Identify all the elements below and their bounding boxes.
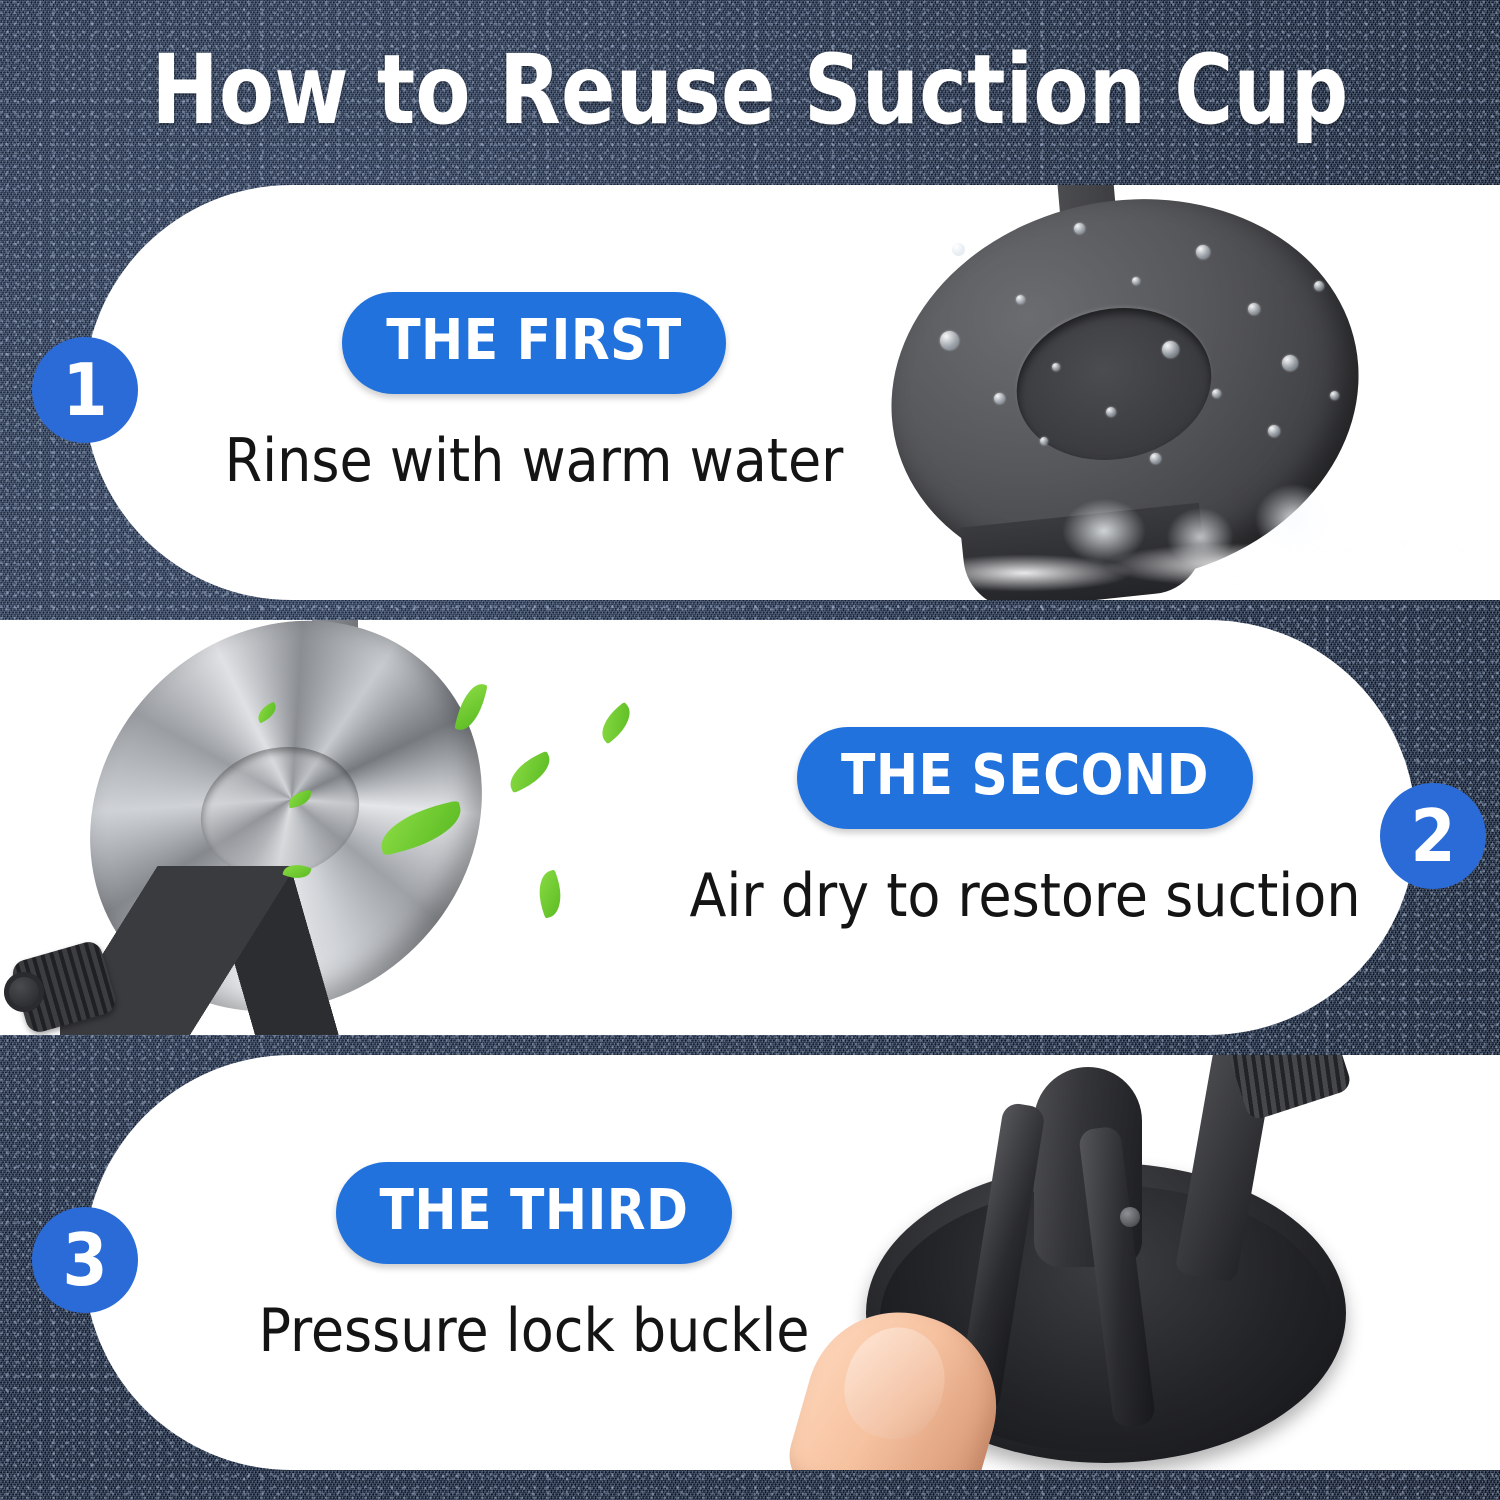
step-2-text: THE SECOND Air dry to restore suction xyxy=(700,620,1350,1035)
water-droplet xyxy=(994,393,1005,404)
step-2-caption: Air dry to restore suction xyxy=(689,863,1360,929)
leaf-icon xyxy=(454,680,487,734)
step-3-text: THE THIRD Pressure lock buckle xyxy=(224,1055,844,1470)
step-1-text: THE FIRST Rinse with warm water xyxy=(224,185,844,600)
page-title: How to Reuse Suction Cup xyxy=(53,38,1448,142)
step-2-image xyxy=(0,620,700,1035)
step-3-badge: 3 xyxy=(32,1207,138,1313)
leaf-icon xyxy=(503,751,557,794)
water-droplet xyxy=(1040,437,1048,445)
water-droplet xyxy=(940,331,959,350)
water-droplet xyxy=(1212,389,1221,398)
water-droplet xyxy=(1282,355,1298,371)
infographic-poster: How to Reuse Suction Cup xyxy=(0,0,1500,1500)
water-droplet xyxy=(952,243,965,256)
step-1-caption: Rinse with warm water xyxy=(225,428,844,494)
water-droplet xyxy=(1196,245,1210,259)
water-droplet xyxy=(1074,223,1085,234)
hex-bolt xyxy=(4,972,44,1012)
step-3-label: THE THIRD xyxy=(336,1162,733,1264)
water-droplet xyxy=(1330,391,1339,400)
water-droplet xyxy=(1132,277,1140,285)
step-card-1: THE FIRST Rinse with warm water xyxy=(84,185,1500,600)
step-1-label: THE FIRST xyxy=(342,292,726,394)
pivot-pin xyxy=(1120,1207,1140,1227)
water-droplet xyxy=(1016,295,1025,304)
water-droplet xyxy=(1314,281,1324,291)
step-1-badge: 1 xyxy=(32,337,138,443)
water-droplet xyxy=(1268,425,1280,437)
water-droplet xyxy=(1106,407,1116,417)
water-droplet xyxy=(1052,363,1060,371)
leaf-icon xyxy=(594,702,639,745)
water-splash xyxy=(904,453,1500,600)
water-droplet xyxy=(1248,303,1260,315)
step-3-caption: Pressure lock buckle xyxy=(258,1298,809,1364)
water-droplet xyxy=(1150,453,1161,464)
step-1-image xyxy=(844,185,1500,600)
step-2-label: THE SECOND xyxy=(797,727,1253,829)
step-2-badge: 2 xyxy=(1380,783,1486,889)
step-3-image xyxy=(784,1055,1500,1470)
step-card-3: THE THIRD Pressure lock buckle xyxy=(84,1055,1500,1470)
leaf-icon xyxy=(532,869,568,918)
step-card-2: THE SECOND Air dry to restore suction xyxy=(0,620,1416,1035)
water-droplet xyxy=(1162,341,1179,358)
